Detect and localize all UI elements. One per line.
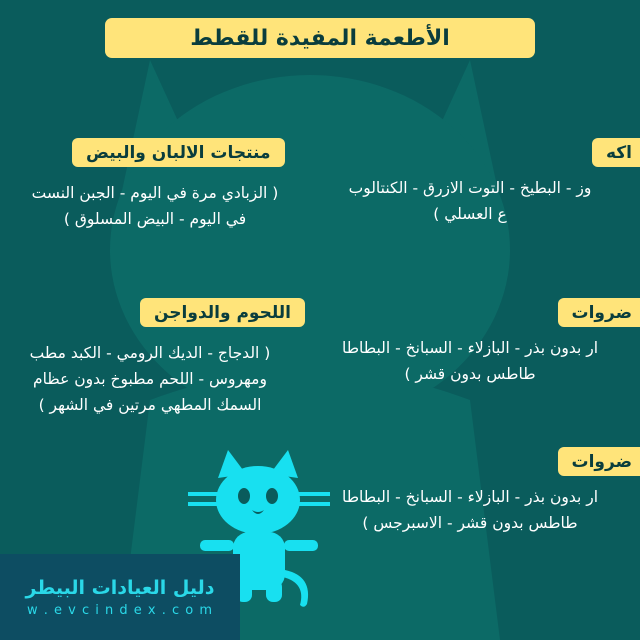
section-heading-vegetables-2: ضروات [558, 447, 640, 476]
page-title: الأطعمة المفيدة للقطط [105, 18, 535, 58]
section-heading-meat: اللحوم والدواجن [140, 298, 305, 327]
section-body-dairy: ( الزبادي مرة في اليوم - الجبن النستفي ا… [0, 180, 365, 232]
brand-footer: دليل العيادات البيطر w . e v c i n d e x… [0, 554, 240, 640]
brand-url: w . e v c i n d e x . c o m [27, 603, 213, 618]
section-heading-vegetables-1: ضروات [558, 298, 640, 327]
section-heading-fruits: اكه [592, 138, 640, 167]
section-body-meat: ( الدجاج - الديك الرومي - الكبد مطبومهرو… [0, 340, 360, 418]
section-heading-vegetables-2-label: ضروات [572, 452, 632, 472]
section-heading-vegetables-1-label: ضروات [572, 303, 632, 323]
infographic-page: { "page": { "title": "الأطعمة المفيدة لل… [0, 0, 640, 640]
page-title-text: الأطعمة المفيدة للقطط [190, 26, 450, 51]
section-heading-meat-label: اللحوم والدواجن [154, 303, 291, 323]
section-heading-dairy: منتجات الالبان والبيض [72, 138, 285, 167]
brand-name: دليل العيادات البيطر [26, 577, 215, 599]
section-heading-fruits-label: اكه [606, 143, 632, 163]
section-heading-dairy-label: منتجات الالبان والبيض [86, 143, 271, 163]
